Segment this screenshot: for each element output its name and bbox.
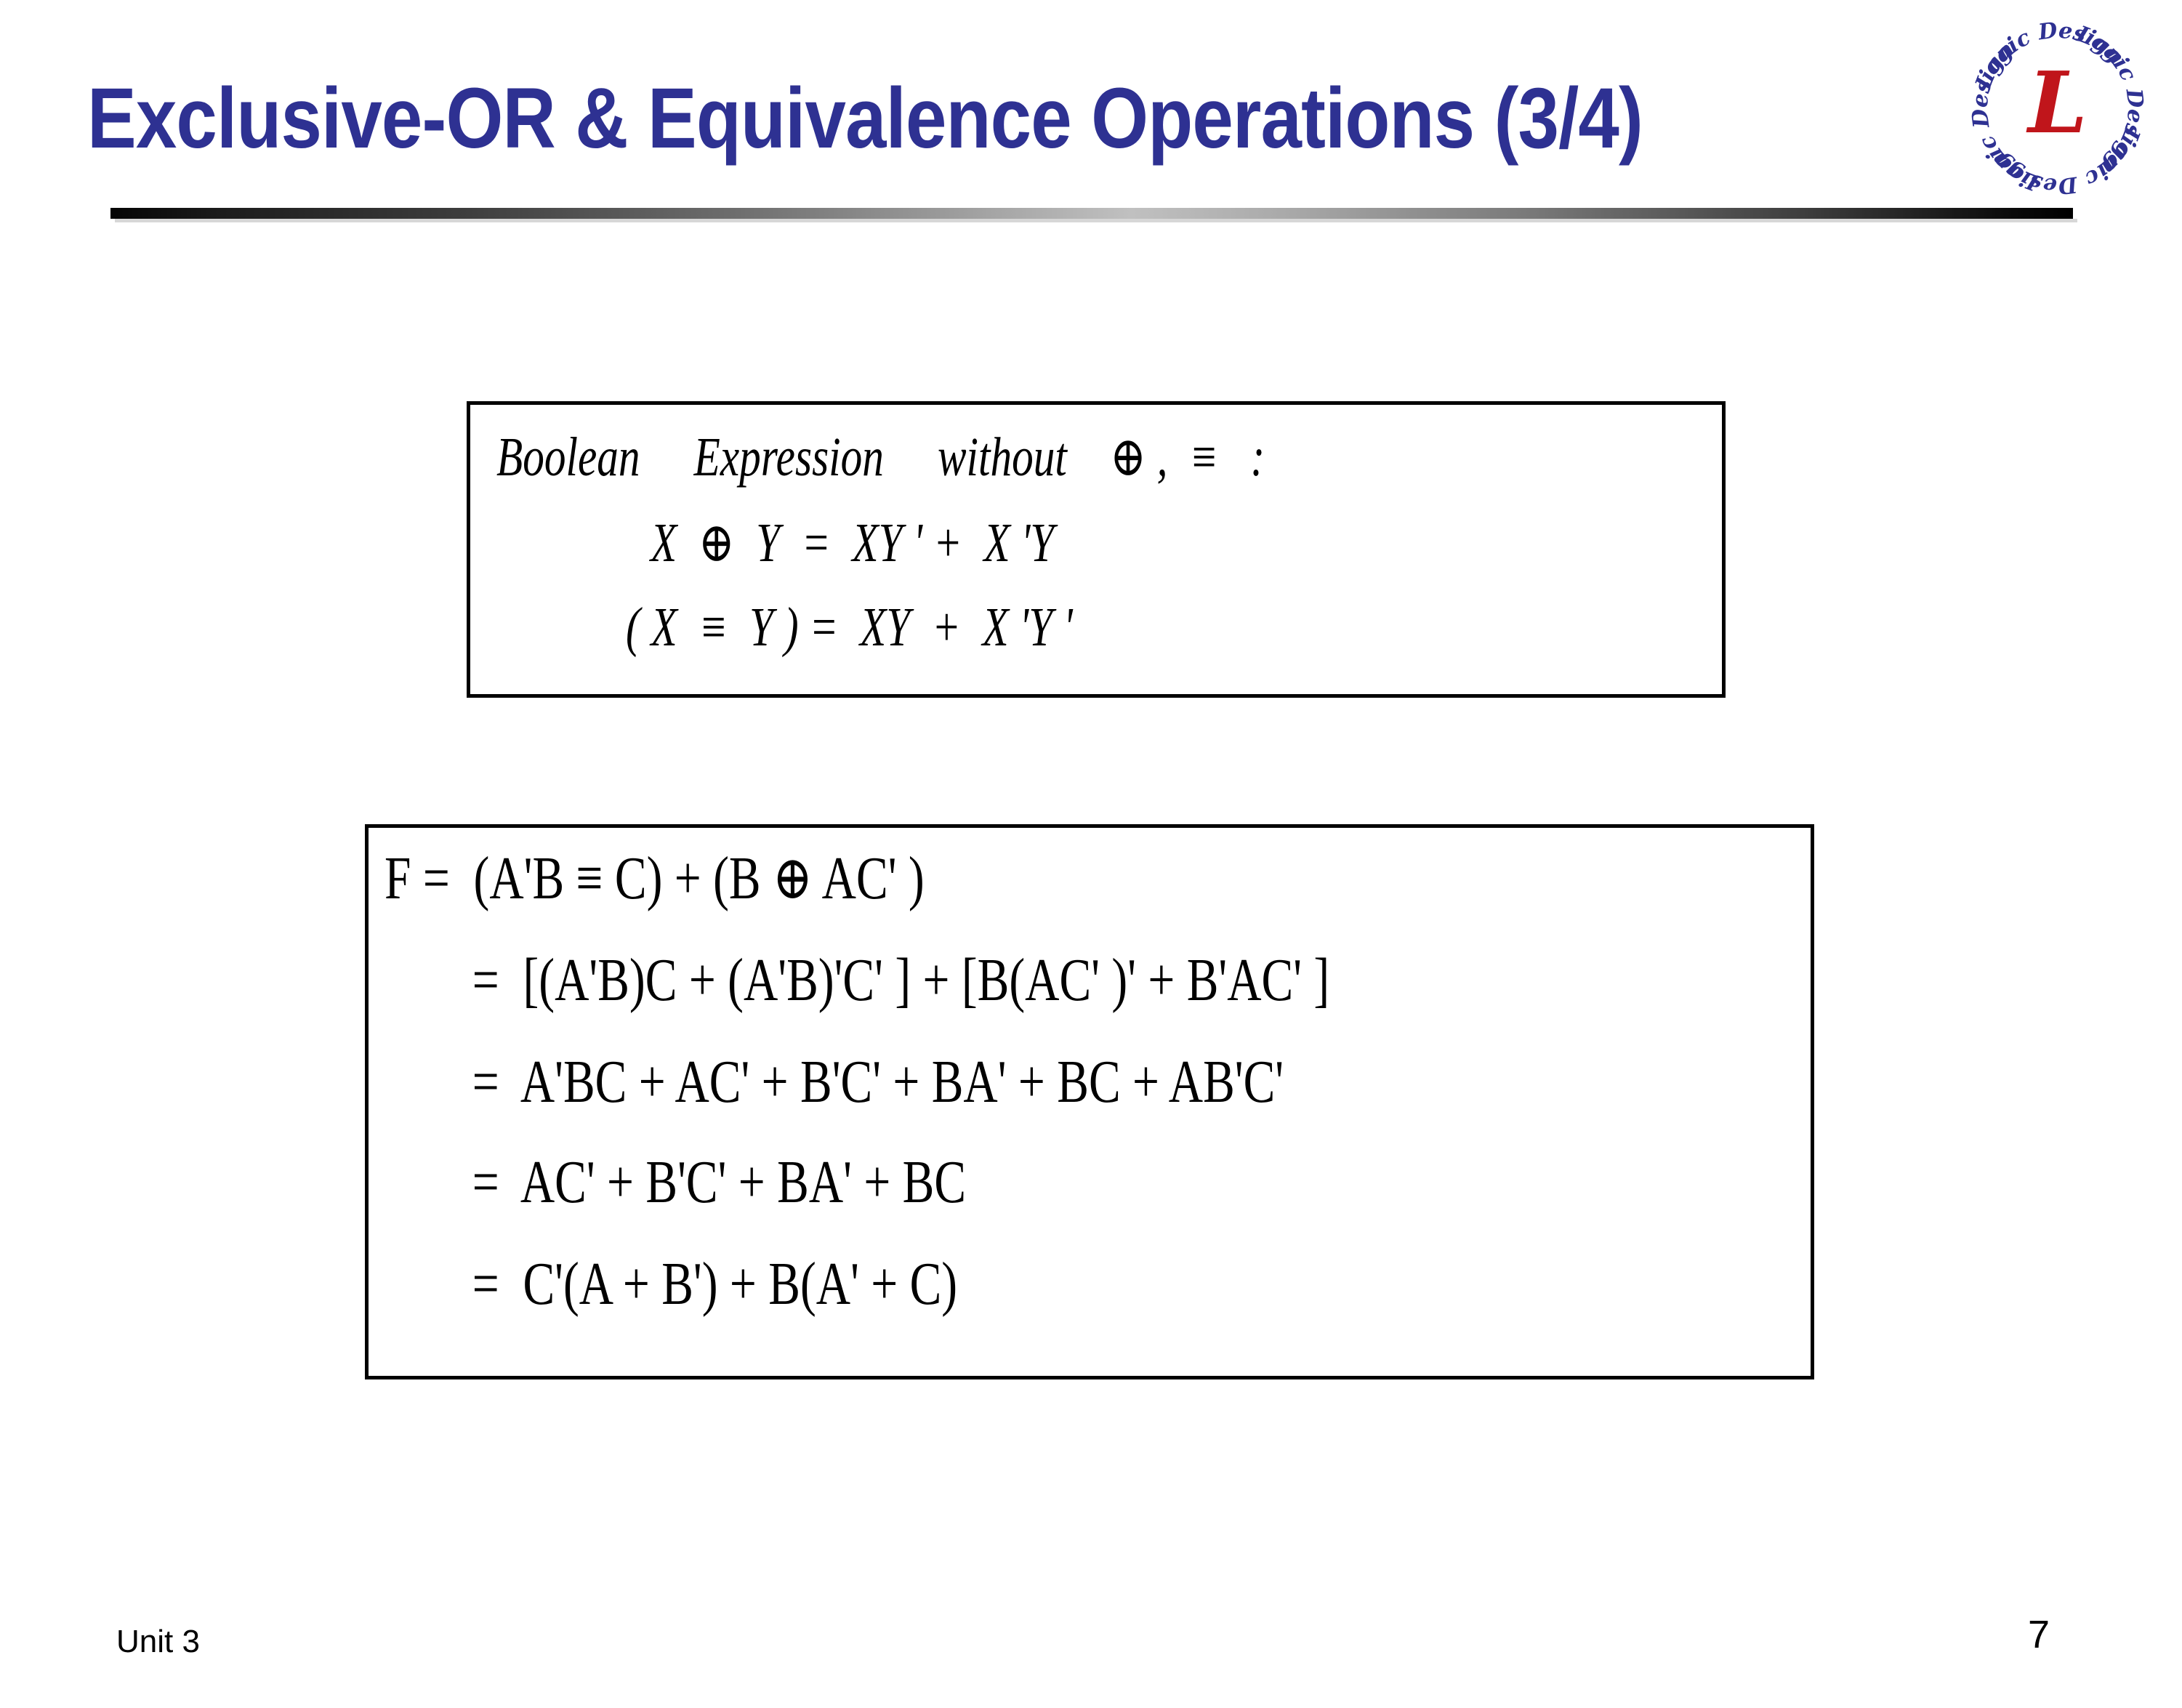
footer-unit-label: Unit 3 [116, 1624, 200, 1660]
derivation-line-1: F = (A'B ≡ C) + (B ⊕ AC' ) [385, 848, 925, 909]
derivation-line-5: = C'(A + B') + B(A' + C) [448, 1254, 957, 1315]
derivation-line-4: = AC' + B'C' + BA' + BC [448, 1152, 966, 1213]
slide: Exclusive-OR & Equivalence Operations (3… [0, 0, 2182, 1708]
page-title: Exclusive-OR & Equivalence Operations (3… [87, 76, 1688, 161]
derivation-formula-box: F = (A'B ≡ C) + (B ⊕ AC' ) = [(A'B)C + (… [365, 824, 1814, 1379]
logo-center-letter: L [2026, 54, 2088, 153]
logic-design-logo: Logic Design Logic Design Logic Design L… [1967, 17, 2149, 199]
derivation-line-2: = [(A'B)C + (A'B)'C' ] + [B(AC' )' + B'A… [448, 950, 1329, 1011]
footer-page-number: 7 [2028, 1612, 2050, 1657]
title-divider-bar [110, 208, 2073, 219]
xor-identity-line: X ⊕ Y = XY ' + X 'Y [651, 515, 1054, 571]
logo-svg: Logic Design Logic Design Logic Design L… [1967, 17, 2149, 199]
title-divider-shadow [115, 219, 2077, 222]
derivation-line-3: = A'BC + AC' + B'C' + BA' + BC + AB'C' [448, 1052, 1284, 1113]
xnor-identity-line: ( X ≡ Y ) = XY + X 'Y ' [626, 600, 1073, 655]
definitions-formula-box: Boolean Expression without ⊕ , ≡ : X ⊕ Y… [467, 401, 1726, 698]
definitions-caption: Boolean Expression without ⊕ , ≡ : [496, 430, 1265, 485]
